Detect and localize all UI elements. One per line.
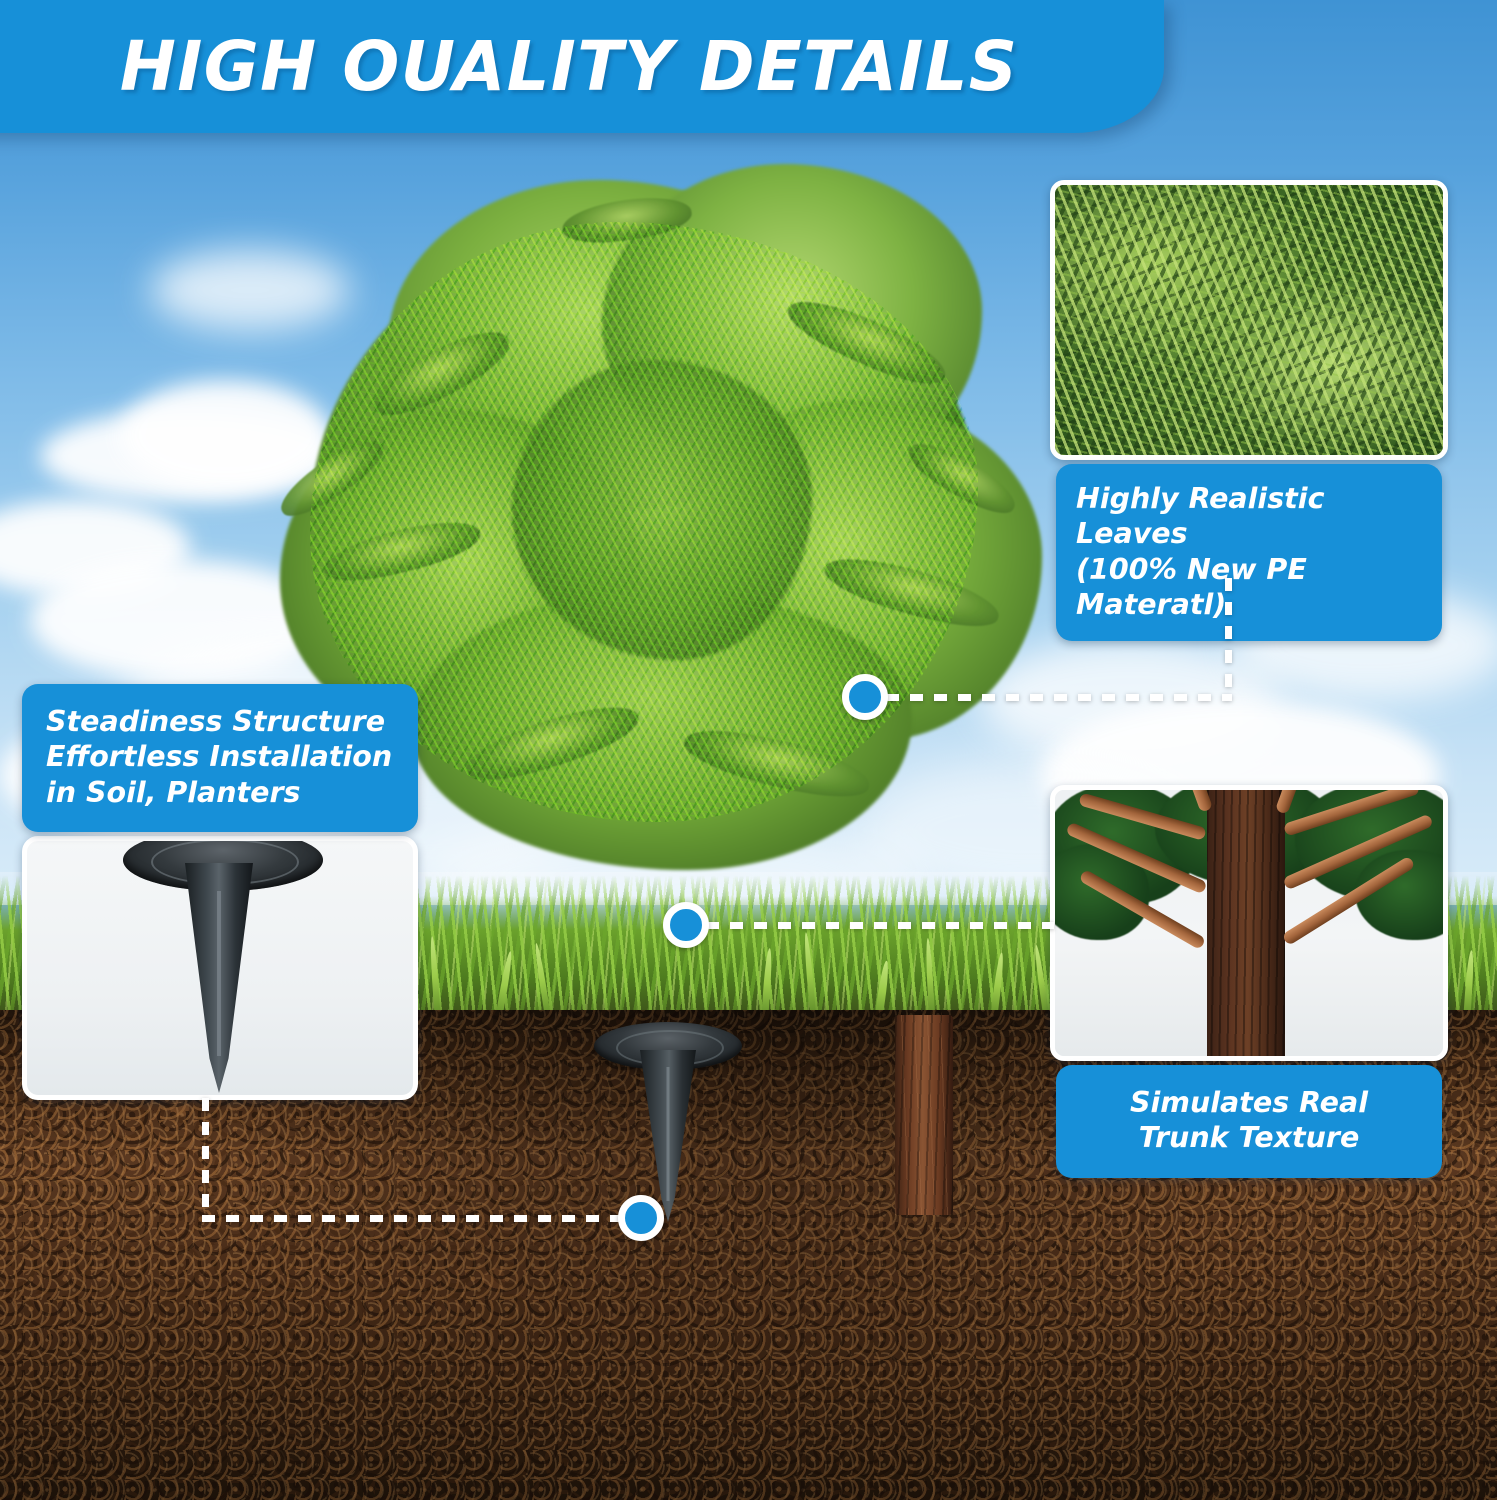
callout-leaves-label: Highly Realistic Leaves (100% New PE Mat…	[1056, 464, 1442, 641]
connector-stake-horizontal	[202, 1215, 640, 1222]
callout-leaves[interactable]: Highly Realistic Leaves (100% New PE Mat…	[1050, 180, 1448, 580]
leaf-texture	[1050, 180, 1448, 460]
stake-photo-spike	[185, 863, 253, 1093]
callout-stake-line2: Effortless Installation	[46, 739, 394, 774]
callout-stake-label: Steadiness Structure Effortless Installa…	[22, 684, 418, 832]
callout-stake-line1: Steadiness Structure	[46, 704, 394, 739]
tree-trunk	[895, 1015, 953, 1215]
callout-trunk[interactable]: Simulates Real Trunk Texture	[1050, 785, 1448, 1185]
header-banner: HIGH OUALITY DETAILS	[0, 0, 1164, 133]
ground-stake-photo	[22, 836, 418, 1100]
connector-leaves-vertical	[1225, 578, 1232, 698]
trunk-texture	[1055, 790, 1443, 1056]
connector-trunk-horizontal	[706, 922, 1054, 929]
marker-trunk[interactable]	[663, 902, 709, 948]
connector-leaves-horizontal	[886, 694, 1232, 701]
trunk-photo-trunk	[1207, 790, 1285, 1061]
callout-leaves-line2: (100% New PE Materatl)	[1076, 552, 1422, 623]
page-title: HIGH OUALITY DETAILS	[120, 27, 1019, 107]
callout-trunk-line2: Trunk Texture	[1076, 1120, 1422, 1155]
callout-trunk-label: Simulates Real Trunk Texture	[1056, 1065, 1442, 1178]
callout-leaves-line1: Highly Realistic Leaves	[1076, 481, 1422, 552]
connector-stake-vertical	[202, 1098, 209, 1218]
marker-leaves[interactable]	[842, 674, 888, 720]
marker-stake[interactable]	[618, 1195, 664, 1241]
infographic-canvas: HIGH OUALITY DETAILS Highly Realistic Le…	[0, 0, 1497, 1500]
trunk-closeup-photo	[1050, 785, 1448, 1061]
leaf-closeup-photo	[1050, 180, 1448, 460]
callout-trunk-line1: Simulates Real	[1076, 1085, 1422, 1120]
ground-stake	[594, 1022, 742, 1222]
callout-stake[interactable]: Steadiness Structure Effortless Installa…	[22, 684, 418, 1100]
callout-stake-line3: in Soil, Planters	[46, 775, 394, 810]
